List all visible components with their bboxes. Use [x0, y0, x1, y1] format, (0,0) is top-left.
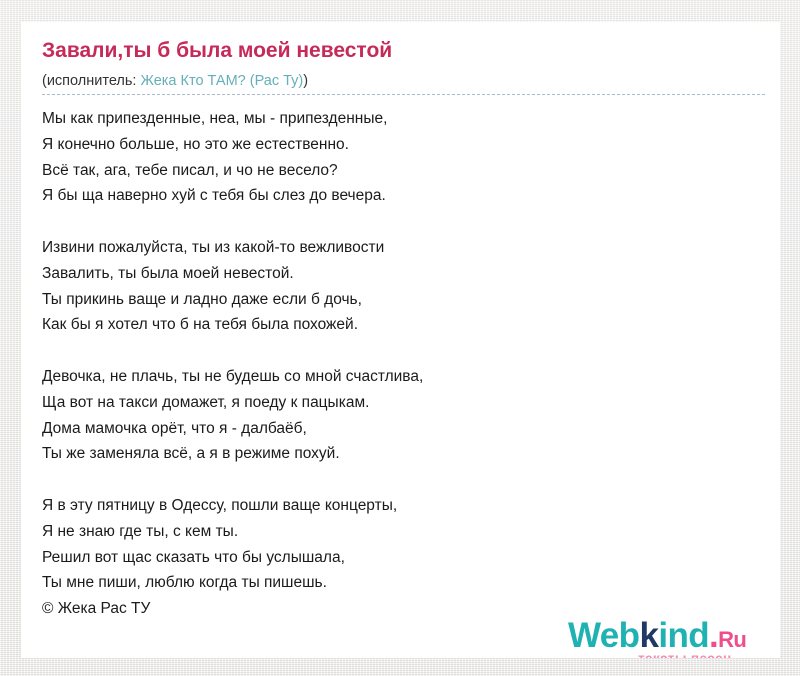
verse-separator	[42, 338, 752, 364]
lyric-line: Ща вот на такси домажет, я поеду к пацык…	[42, 390, 752, 416]
content-card: Завали,ты б была моей невестой (исполнит…	[21, 22, 780, 658]
site-logo[interactable]: Webkind.Ru тексты песен	[568, 618, 764, 658]
lyric-line: Завалить, ты была моей невестой.	[42, 261, 752, 287]
lyric-line: Я не знаю где ты, с кем ты.	[42, 519, 752, 545]
logo-part-dot: .	[709, 616, 718, 655]
lyric-line: Мы как припезденные, неа, мы - припезден…	[42, 106, 752, 132]
logo-part-ind: ind	[658, 616, 709, 655]
lyric-line: Ты же заменяла всё, а я в режиме похуй.	[42, 441, 752, 467]
lyric-line: Ты мне пиши, люблю когда ты пишешь.	[42, 570, 752, 596]
lyric-line: Извини пожалуйста, ты из какой-то вежлив…	[42, 235, 752, 261]
performer-prefix-label: (исполнитель:	[42, 73, 140, 89]
lyrics-body: Мы как припезденные, неа, мы - припезден…	[42, 106, 752, 622]
lyric-line: Всё так, ага, тебе писал, и чо не весело…	[42, 158, 752, 184]
lyric-line: Как бы я хотел что б на тебя была похоже…	[42, 312, 752, 338]
verse-separator	[42, 467, 752, 493]
lyric-line: Ты прикинь ваще и ладно даже если б дочь…	[42, 287, 752, 313]
logo-part-ru: Ru	[718, 627, 746, 652]
lyric-line: Я в эту пятницу в Одессу, пошли ваще кон…	[42, 493, 752, 519]
lyric-line: Девочка, не плачь, ты не будешь со мной …	[42, 364, 752, 390]
verse-separator	[42, 209, 752, 235]
logo-part-k: k	[639, 616, 658, 655]
lyric-line: Дома мамочка орёт, что я - далбаёб,	[42, 416, 752, 442]
lyric-line: Решил вот щас сказать что бы услышала,	[42, 545, 752, 571]
logo-tagline: тексты песен	[638, 651, 732, 658]
header-divider	[42, 94, 765, 95]
performer-link[interactable]: Жека Кто ТАМ? (Рас Ту)	[140, 73, 303, 89]
performer-line: (исполнитель: Жека Кто ТАМ? (Рас Ту))	[42, 73, 308, 89]
lyric-line: Я бы ща наверно хуй с тебя бы слез до ве…	[42, 183, 752, 209]
lyric-line: Я конечно больше, но это же естественно.	[42, 132, 752, 158]
performer-suffix-label: )	[303, 73, 308, 89]
page-title: Завали,ты б была моей невестой	[42, 39, 392, 63]
logo-part-web: Web	[568, 616, 639, 655]
